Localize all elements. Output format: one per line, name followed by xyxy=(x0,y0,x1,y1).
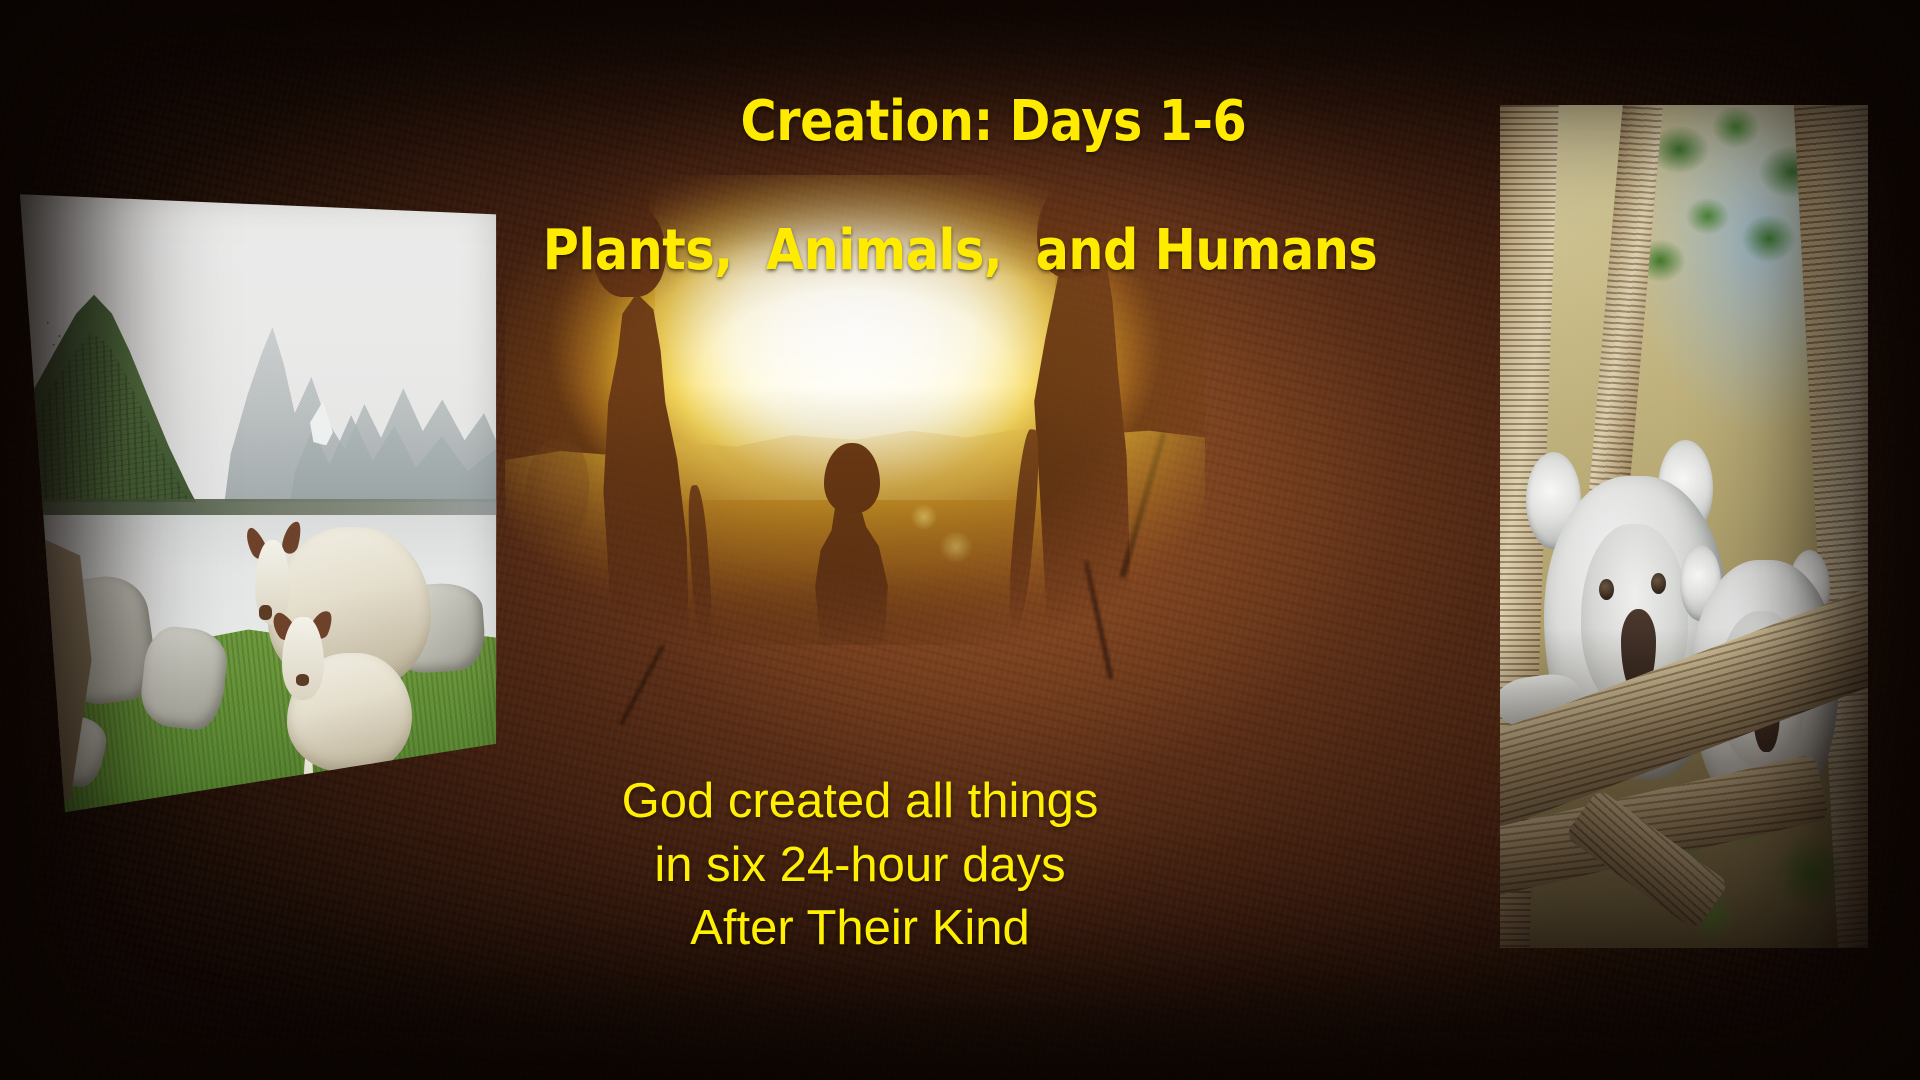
sheep-lamb xyxy=(287,653,412,772)
photo-shadow-overlay xyxy=(1500,628,1868,948)
photo-blend-overlay xyxy=(505,175,1205,645)
sheep-head xyxy=(282,617,324,701)
creation-slide: Creation: Days 1-6 Plants, Animals, and … xyxy=(0,0,1920,1080)
sheep-fjord-photo xyxy=(18,188,498,816)
far-shoreline xyxy=(18,499,498,515)
sheep-snout xyxy=(296,674,310,686)
koala-eye xyxy=(1651,573,1666,594)
koalas-photo xyxy=(1500,105,1868,948)
family-silhouette-photo xyxy=(505,175,1205,645)
sheep-snout xyxy=(259,605,272,620)
